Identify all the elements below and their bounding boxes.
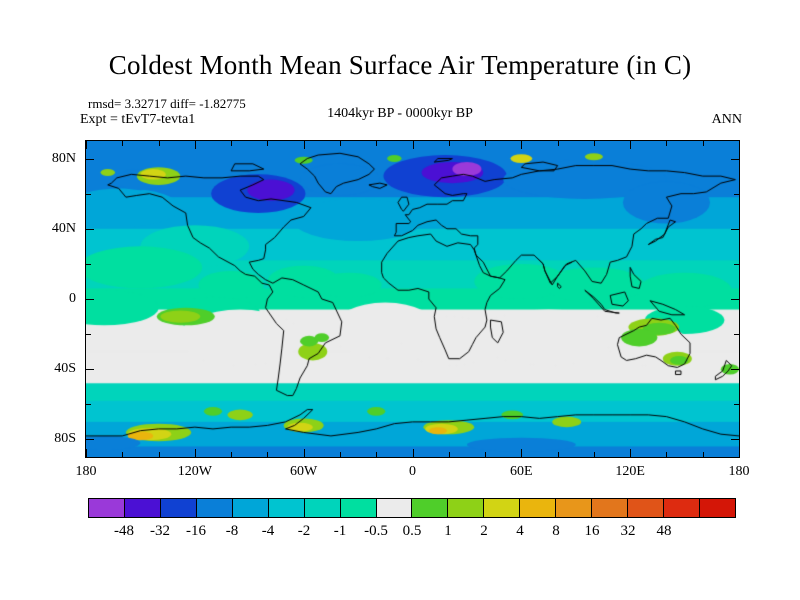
x-axis-label: 60E (510, 464, 533, 480)
axis-tick (731, 439, 739, 440)
colorbar-cell-15 (628, 499, 664, 517)
axis-tick (159, 141, 160, 146)
axis-tick (594, 452, 595, 457)
axis-tick (340, 452, 341, 457)
axis-tick (731, 369, 739, 370)
colorbar-tick-label: -32 (150, 523, 170, 540)
x-axis-label: 180 (76, 464, 97, 480)
axis-tick (449, 141, 450, 146)
axis-tick (122, 452, 123, 457)
colorbar-tick-label: -4 (262, 523, 275, 540)
axis-tick (267, 452, 268, 457)
axis-tick (485, 141, 486, 146)
axis-tick (521, 449, 522, 457)
y-axis-label: 80S (30, 431, 76, 447)
colorbar-tick-label: -1 (334, 523, 347, 540)
axis-tick (86, 194, 91, 195)
axis-tick (449, 452, 450, 457)
axis-tick (734, 264, 739, 265)
axis-tick (376, 452, 377, 457)
colorbar-cell-4 (233, 499, 269, 517)
axis-tick (731, 299, 739, 300)
y-axis-label: 40N (30, 221, 76, 237)
colorbar-cell-14 (592, 499, 628, 517)
axis-tick (86, 141, 87, 149)
colorbar-cell-1 (125, 499, 161, 517)
colorbar-cell-16 (664, 499, 700, 517)
axis-tick (86, 159, 94, 160)
colorbar-tick-label: 48 (657, 523, 672, 540)
colorbar-cell-3 (197, 499, 233, 517)
axis-tick (159, 452, 160, 457)
axis-tick (340, 141, 341, 146)
colorbar-tick-label: 0.5 (403, 523, 422, 540)
axis-tick (304, 141, 305, 149)
axis-tick (304, 449, 305, 457)
colorbar-tick-label: 16 (585, 523, 600, 540)
axis-tick (594, 141, 595, 146)
axis-tick (86, 229, 94, 230)
colorbar-cell-17 (700, 499, 735, 517)
colorbar-cell-8 (377, 499, 413, 517)
colorbar-cell-7 (341, 499, 377, 517)
axis-tick (485, 452, 486, 457)
x-axis-label: 0 (409, 464, 416, 480)
colorbar-tick-label: -16 (186, 523, 206, 540)
axis-tick (231, 141, 232, 146)
y-axis-label: 80N (30, 151, 76, 167)
axis-tick (558, 452, 559, 457)
colorbar-tick-label: 8 (552, 523, 560, 540)
period-annotation: 1404kyr BP - 0000kyr BP (0, 106, 800, 122)
axis-tick (195, 141, 196, 149)
axis-tick (731, 229, 739, 230)
axis-tick (86, 369, 94, 370)
colorbar[interactable] (88, 498, 736, 518)
axis-tick (558, 141, 559, 146)
colorbar-cell-6 (305, 499, 341, 517)
x-axis-label: 120E (615, 464, 645, 480)
axis-tick (731, 159, 739, 160)
x-axis-label: 180 (729, 464, 750, 480)
axis-tick (739, 141, 740, 149)
axis-tick (521, 141, 522, 149)
axis-tick (630, 141, 631, 149)
temperature-anomaly-heatmap (86, 141, 739, 457)
colorbar-tick-label: -48 (114, 523, 134, 540)
x-axis-label: 60W (290, 464, 317, 480)
axis-tick (734, 334, 739, 335)
axis-tick (122, 141, 123, 146)
colorbar-cell-5 (269, 499, 305, 517)
axis-tick (86, 334, 91, 335)
axis-tick (630, 449, 631, 457)
x-axis-label: 120W (178, 464, 212, 480)
axis-tick (413, 141, 414, 149)
axis-tick (376, 141, 377, 146)
colorbar-tick-label: 1 (444, 523, 452, 540)
axis-tick (703, 452, 704, 457)
axis-tick (195, 449, 196, 457)
colorbar-cell-12 (520, 499, 556, 517)
axis-tick (703, 141, 704, 146)
colorbar-cell-13 (556, 499, 592, 517)
axis-tick (666, 141, 667, 146)
colorbar-tick-label: -0.5 (364, 523, 388, 540)
axis-tick (739, 449, 740, 457)
y-axis-label: 0 (30, 291, 76, 307)
colorbar-cell-0 (89, 499, 125, 517)
axis-tick (86, 439, 94, 440)
axis-tick (267, 141, 268, 146)
y-axis-label: 40S (30, 361, 76, 377)
colorbar-cell-2 (161, 499, 197, 517)
axis-tick (86, 449, 87, 457)
axis-tick (734, 194, 739, 195)
axis-tick (86, 404, 91, 405)
colorbar-tick-label: 2 (480, 523, 488, 540)
axis-tick (231, 452, 232, 457)
axis-tick (86, 264, 91, 265)
page-title: Coldest Month Mean Surface Air Temperatu… (0, 50, 800, 81)
colorbar-tick-label: 32 (621, 523, 636, 540)
colorbar-cell-10 (448, 499, 484, 517)
colorbar-cell-9 (412, 499, 448, 517)
season-annotation: ANN (712, 112, 742, 128)
axis-tick (413, 449, 414, 457)
axis-tick (86, 299, 94, 300)
colorbar-tick-label: -8 (226, 523, 239, 540)
map-plot-area[interactable] (85, 140, 740, 458)
colorbar-tick-label: 4 (516, 523, 524, 540)
axis-tick (666, 452, 667, 457)
colorbar-tick-label: -2 (298, 523, 311, 540)
axis-tick (734, 404, 739, 405)
colorbar-cell-11 (484, 499, 520, 517)
